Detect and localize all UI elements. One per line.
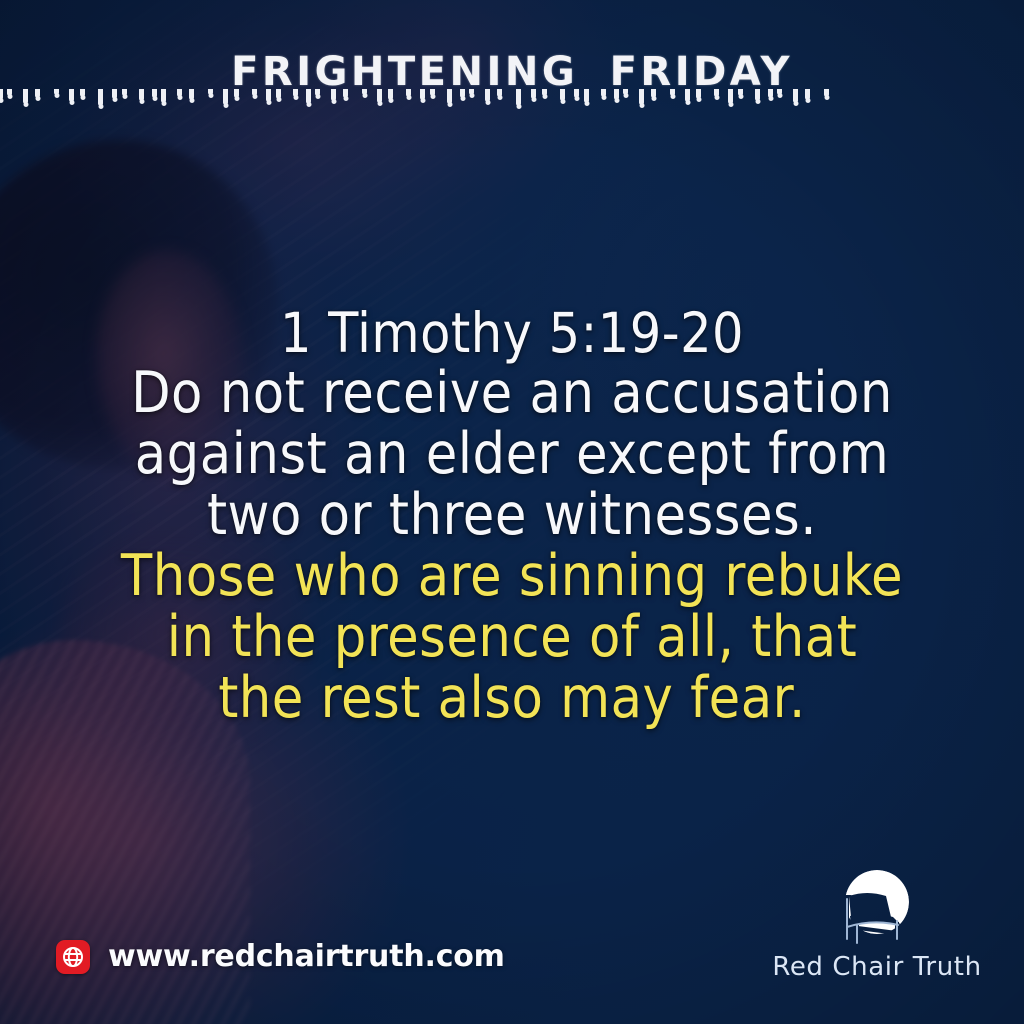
poster-canvas: FRIGHTENING FRIDAY 1 Timothy 5:19-20 Do … <box>0 0 1024 1024</box>
verse-yellow-line-3: the rest also may fear. <box>0 670 1024 727</box>
verse-reference: 1 Timothy 5:19-20 <box>0 306 1024 361</box>
page-title: FRIGHTENING FRIDAY <box>231 52 793 92</box>
red-chair-circle-icon <box>752 869 1002 950</box>
website-url-text: www.redchairtruth.com <box>108 939 505 974</box>
verse-yellow-line-2: in the presence of all, that <box>0 609 1024 666</box>
brand-logo-block[interactable]: Red Chair Truth <box>752 869 1002 982</box>
website-link[interactable]: www.redchairtruth.com <box>56 939 505 974</box>
verse-white-line-1: Do not receive an accusation <box>0 365 1024 422</box>
verse-yellow-line-1: Those who are sinning rebuke <box>0 548 1024 605</box>
scripture-block: 1 Timothy 5:19-20 Do not receive an accu… <box>0 306 1024 731</box>
verse-white-line-3: two or three witnesses. <box>0 487 1024 544</box>
poster-title-container: FRIGHTENING FRIDAY <box>0 52 1024 92</box>
globe-icon <box>56 940 90 974</box>
verse-white-line-2: against an elder except from <box>0 426 1024 483</box>
brand-name-text: Red Chair Truth <box>752 952 1002 982</box>
